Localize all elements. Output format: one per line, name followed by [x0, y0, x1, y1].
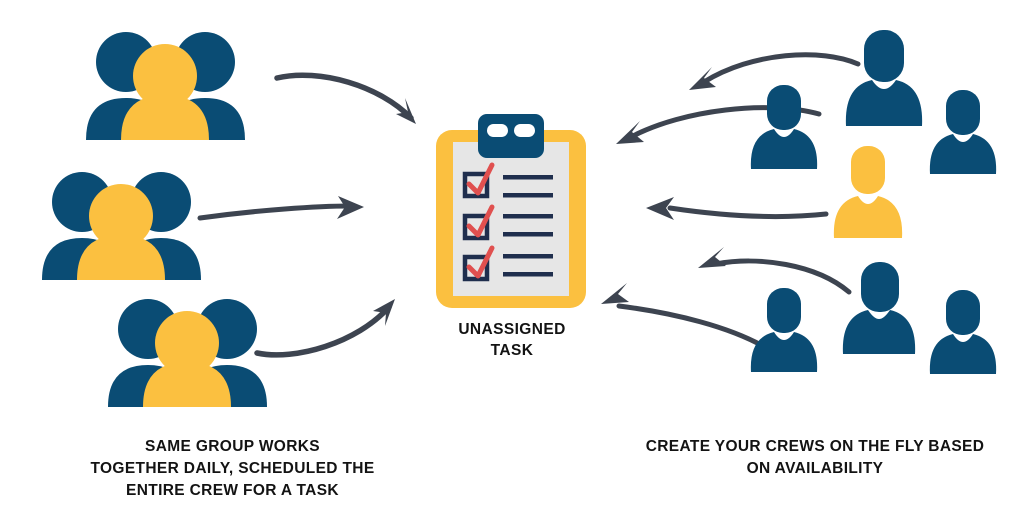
diagram-canvas: UNASSIGNED TASK — [0, 0, 1017, 531]
group-icon-middle — [34, 168, 209, 280]
clipboard-clip — [478, 114, 544, 158]
person-top-left — [746, 85, 822, 169]
arrow-top-to-task — [275, 60, 435, 140]
person-bottom-center — [838, 262, 922, 354]
caption-right: CREATE YOUR CREWS ON THE FLY BASED ON AV… — [620, 436, 1010, 480]
arrow-bottom-to-task — [255, 285, 420, 365]
arrow-crew-3 — [640, 192, 830, 232]
person-middle-center — [830, 146, 906, 238]
clipboard-checklist-icon — [428, 112, 594, 312]
person-top-right — [925, 90, 1001, 174]
caption-left: SAME GROUP WORKS TOGETHER DAILY, SCHEDUL… — [45, 436, 420, 502]
person-top-center — [840, 30, 928, 126]
group-icon-bottom — [100, 295, 275, 407]
arrow-middle-to-task — [198, 192, 378, 232]
person-bottom-right — [925, 290, 1001, 374]
clipboard-label: UNASSIGNED TASK — [408, 319, 616, 361]
group-icon-top — [78, 28, 253, 140]
person-bottom-left — [746, 288, 822, 372]
